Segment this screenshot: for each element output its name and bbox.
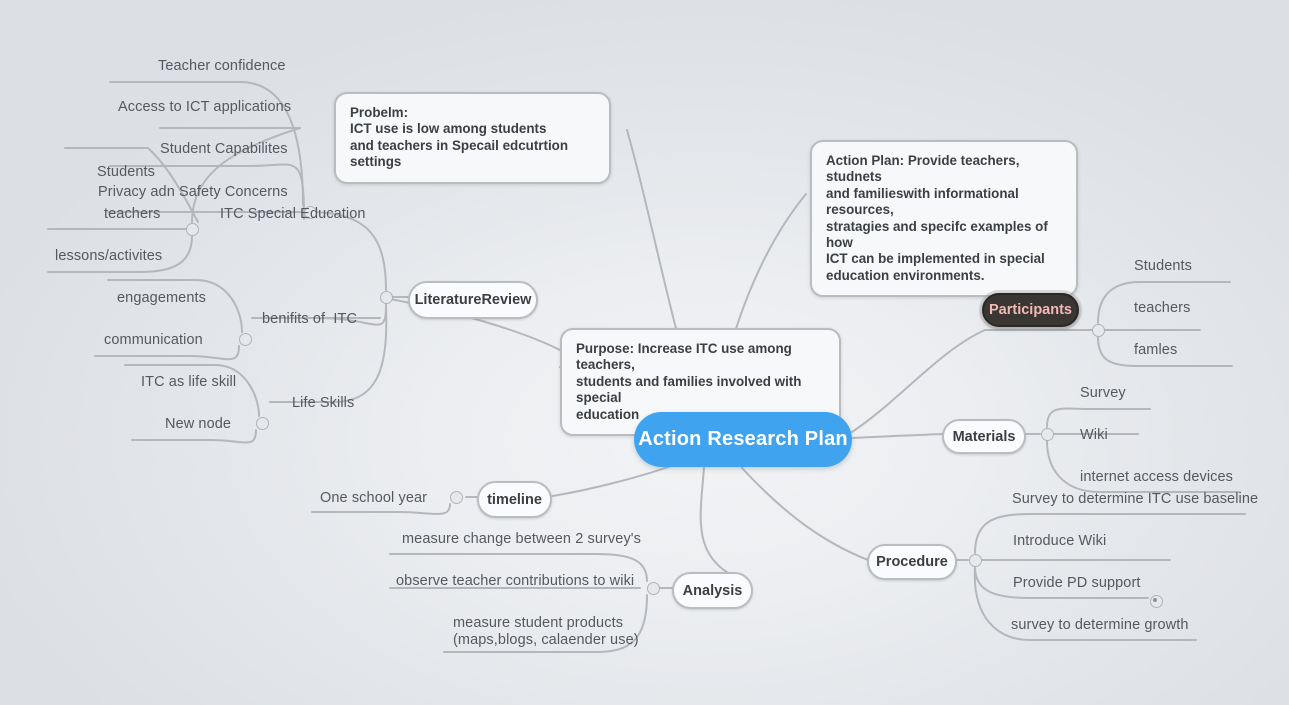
leaf-new-node[interactable]: New node: [165, 416, 231, 433]
leaf-measure-change[interactable]: measure change between 2 survey's: [402, 531, 641, 548]
junction-dot-procedure[interactable]: [969, 554, 982, 567]
leaf-observe-teacher-contributions[interactable]: observe teacher contributions to wiki: [396, 573, 634, 590]
node-literature-review[interactable]: LiteratureReview: [408, 281, 538, 319]
junction-dot-literature-review[interactable]: [380, 291, 393, 304]
leaf-privacy-and-safety-concerns[interactable]: Privacy adn Safety Concerns: [98, 184, 288, 201]
junction-dot-life-skills[interactable]: [256, 417, 269, 430]
junction-dot-participants[interactable]: [1092, 324, 1105, 337]
mindmap-canvas[interactable]: Probelm: ICT use is low among students a…: [0, 0, 1289, 705]
junction-dot-materials[interactable]: [1041, 428, 1054, 441]
leaf-life-skills[interactable]: Life Skills: [292, 395, 354, 412]
junction-dot-benifits-of-itc[interactable]: [239, 333, 252, 346]
leaf-survey[interactable]: Survey: [1080, 385, 1126, 402]
leaf-itc-special-education[interactable]: ITC Special Education: [220, 206, 366, 223]
leaf-introduce-wiki[interactable]: Introduce Wiki: [1013, 533, 1106, 550]
node-action-research-plan[interactable]: Action Research Plan: [634, 412, 852, 467]
leaf-famles[interactable]: famles: [1134, 342, 1177, 359]
collapse-dot-provide-pd-support[interactable]: [1150, 595, 1163, 608]
leaf-survey-baseline[interactable]: Survey to determine ITC use baseline: [1012, 491, 1258, 508]
note-problem[interactable]: Probelm: ICT use is low among students a…: [334, 92, 611, 184]
junction-dot-timeline[interactable]: [450, 491, 463, 504]
leaf-students-left[interactable]: Students: [97, 164, 155, 181]
leaf-teacher-confidence[interactable]: Teacher confidence: [158, 58, 286, 75]
junction-dot-itc-subbranch[interactable]: [186, 223, 199, 236]
node-materials[interactable]: Materials: [942, 419, 1026, 454]
leaf-engagements[interactable]: engagements: [117, 290, 206, 307]
leaf-measure-student-products[interactable]: measure student products (maps,blogs, ca…: [453, 615, 639, 649]
leaf-communication[interactable]: communication: [104, 332, 203, 349]
node-procedure[interactable]: Procedure: [867, 544, 957, 580]
node-participants[interactable]: Participants: [982, 293, 1079, 327]
leaf-internet-access-devices[interactable]: internet access devices: [1080, 469, 1233, 486]
leaf-one-school-year[interactable]: One school year: [320, 490, 427, 507]
junction-dot-analysis[interactable]: [647, 582, 660, 595]
node-analysis[interactable]: Analysis: [672, 572, 753, 609]
leaf-student-capabilites[interactable]: Student Capabilites: [160, 141, 288, 158]
leaf-lessons-activites[interactable]: lessons/activites: [55, 248, 162, 265]
leaf-students-right[interactable]: Students: [1134, 258, 1192, 275]
leaf-access-to-ict-applications[interactable]: Access to ICT applications: [118, 99, 291, 116]
leaf-teachers-right[interactable]: teachers: [1134, 300, 1190, 317]
leaf-wiki[interactable]: Wiki: [1080, 427, 1108, 444]
leaf-itc-as-life-skill[interactable]: ITC as life skill: [141, 374, 236, 391]
leaf-survey-growth[interactable]: survey to determine growth: [1011, 617, 1189, 634]
node-timeline[interactable]: timeline: [477, 481, 552, 518]
note-action-plan[interactable]: Action Plan: Provide teachers, studnets …: [810, 140, 1078, 297]
leaf-teachers-left[interactable]: teachers: [104, 206, 160, 223]
leaf-provide-pd-support[interactable]: Provide PD support: [1013, 575, 1141, 592]
leaf-benifits-of-itc[interactable]: benifits of ITC: [262, 311, 357, 328]
